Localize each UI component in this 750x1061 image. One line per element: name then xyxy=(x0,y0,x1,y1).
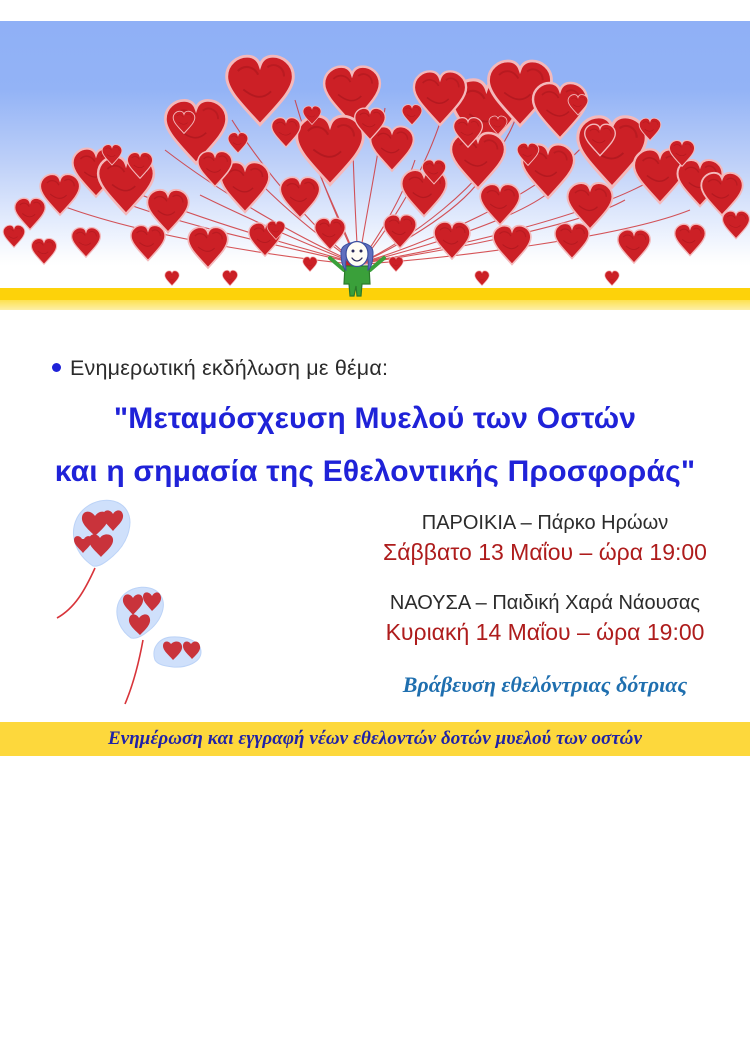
footer: Διοργάνωση: Με την υποστήριξη: ΠΑ ΡΙ ΩΝ … xyxy=(0,770,750,1061)
award-line: Βράβευση εθελόντριας δότριας xyxy=(350,672,740,698)
event-place-1: ΠΑΡΟΙΚΙΑ – Πάρκο Ηρώων xyxy=(350,512,740,535)
ground-fade xyxy=(0,300,750,310)
event-date-1: Σάββατο 13 Μαΐου – ώρα 19:00 xyxy=(350,539,740,566)
lead-text: Ενημερωτική εκδήλωση με θέμα: xyxy=(70,356,388,380)
event-date-2: Κυριακή 14 Μαΐου – ώρα 19:00 xyxy=(350,619,740,646)
page-title-line1: "Μεταμόσχευση Μυελού των Οστών xyxy=(0,402,750,436)
heart-balloon-cluster-icon xyxy=(55,490,235,705)
page-title-line2: και η σημασία της Εθελοντικής Προσφοράς" xyxy=(0,455,750,489)
events-block: ΠΑΡΟΙΚΙΑ – Πάρκο Ηρώων Σάββατο 13 Μαΐου … xyxy=(350,512,740,720)
event-place-2: ΝΑΟΥΣΑ – Παιδική Χαρά Νάουσας xyxy=(350,592,740,615)
child-figure-icon xyxy=(322,232,392,300)
info-banner-text: Ενημέρωση και εγγραφή νέων εθελοντών δοτ… xyxy=(108,728,642,750)
bullet-dot-icon xyxy=(52,363,61,372)
lead-line: Ενημερωτική εκδήλωση με θέμα: xyxy=(52,356,388,381)
info-banner: Ενημέρωση και εγγραφή νέων εθελοντών δοτ… xyxy=(0,722,750,756)
hero-illustration xyxy=(0,0,750,310)
poster: Ενημερωτική εκδήλωση με θέμα: "Μεταμόσχε… xyxy=(0,0,750,1061)
